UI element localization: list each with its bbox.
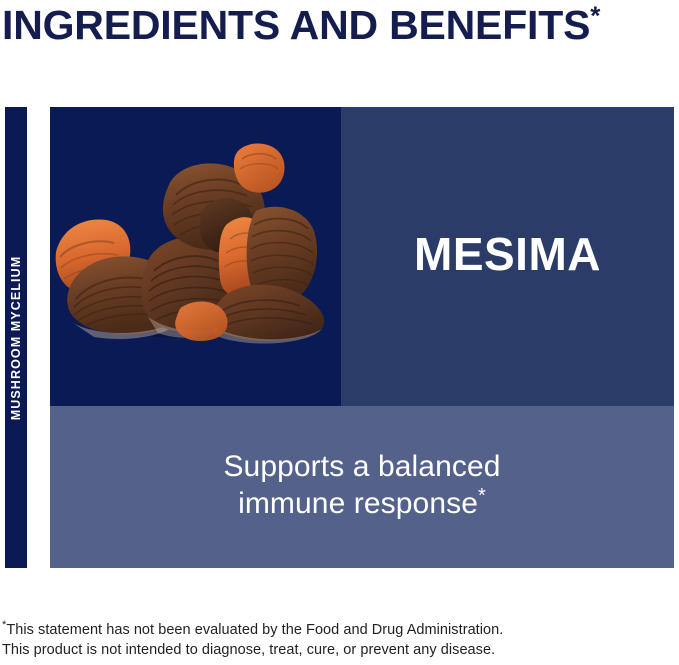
benefit-line-2: immune response — [238, 487, 478, 520]
benefit-asterisk: * — [478, 485, 486, 507]
category-bar-label: MUSHROOM MYCELIUM — [9, 255, 23, 420]
page-title-asterisk: * — [590, 0, 600, 30]
category-bar: MUSHROOM MYCELIUM — [5, 107, 27, 568]
benefit-text: Supports a balanced immune response* — [223, 448, 500, 522]
ingredient-name-tile: MESIMA — [341, 107, 674, 406]
benefit-line-1: Supports a balanced — [223, 450, 500, 483]
ingredient-photo — [50, 107, 341, 406]
ingredient-name: MESIMA — [414, 231, 601, 277]
benefit-strip: Supports a balanced immune response* — [50, 406, 674, 568]
page-title-text: INGREDIENTS AND BENEFITS — [2, 2, 590, 48]
footnote-line-1-text: This statement has not been evaluated by… — [6, 622, 503, 638]
card-top-row: MESIMA — [50, 107, 674, 406]
footnote-line-1: *This statement has not been evaluated b… — [2, 620, 662, 640]
mesima-mushroom-illustration — [50, 107, 341, 406]
footnote-line-2: This product is not intended to diagnose… — [2, 640, 662, 660]
ingredient-card: MESIMA Supports a balanced immune respon… — [50, 107, 674, 568]
footnote-disclaimer: *This statement has not been evaluated b… — [2, 620, 662, 660]
page-title: INGREDIENTS AND BENEFITS* — [2, 1, 677, 49]
